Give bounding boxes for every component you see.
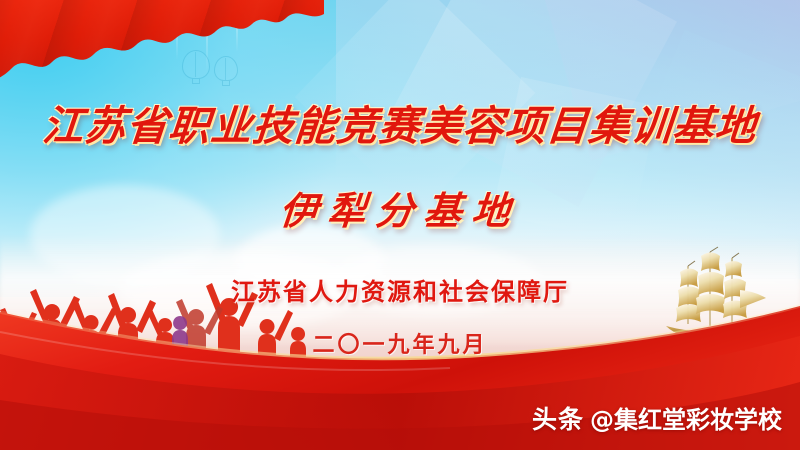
watermark-platform: 头条 bbox=[532, 400, 584, 436]
hot-air-balloon-icon bbox=[214, 56, 236, 86]
poster-canvas: 江苏省职业技能竞赛美容项目集训基地 伊犁分基地 江苏省人力资源和社会保障厅 二〇… bbox=[0, 0, 800, 450]
page-subtitle: 伊犁分基地 bbox=[0, 180, 800, 235]
hot-air-balloon-icon bbox=[182, 50, 208, 84]
page-title: 江苏省职业技能竞赛美容项目集训基地 bbox=[0, 92, 800, 152]
watermark: 头条 @集红堂彩妆学校 bbox=[532, 400, 782, 436]
organization-label: 江苏省人力资源和社会保障厅 bbox=[0, 272, 800, 307]
date-label: 二〇一九年九月 bbox=[0, 327, 800, 359]
watermark-account: @集红堂彩妆学校 bbox=[590, 400, 782, 435]
